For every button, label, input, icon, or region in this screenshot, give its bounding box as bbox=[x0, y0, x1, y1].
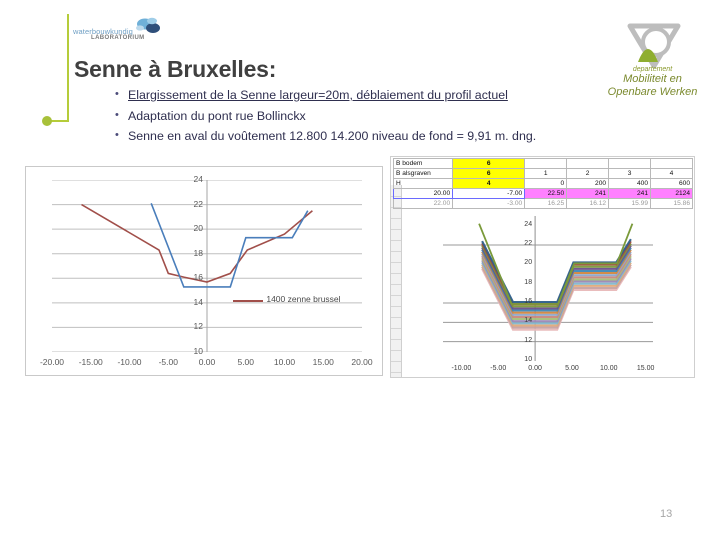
chart-right-xtick-label: 10.00 bbox=[592, 365, 626, 372]
row-header-divider bbox=[391, 361, 401, 362]
chart-left-xtick-label: -5.00 bbox=[148, 357, 188, 367]
cell-r1c4[interactable]: 4 bbox=[651, 169, 693, 179]
chart-left-cross-section: 1012141618202224-20.00-15.00-10.00-5.000… bbox=[25, 166, 383, 376]
page-number: 13 bbox=[660, 508, 672, 520]
chart-right-ytick-label: 22 bbox=[516, 240, 532, 247]
wl-logo-lab: LABORATORIUM bbox=[91, 35, 145, 41]
chart-left-legend-swatch bbox=[233, 300, 263, 302]
chart-left-ytick-label: 20 bbox=[181, 223, 203, 233]
row-label-b-bodem: B bodem bbox=[394, 159, 453, 169]
chart-left-ytick-label: 24 bbox=[181, 174, 203, 184]
chart-left-xtick-label: 20.00 bbox=[342, 357, 382, 367]
cell-r0c4[interactable] bbox=[651, 159, 693, 169]
cell-data-pink1[interactable]: 22.50 bbox=[525, 189, 567, 199]
table-row-selected: 20.00 -7.00 22.50 241 241 2124 bbox=[394, 189, 693, 199]
cell-r2c4[interactable]: 600 bbox=[651, 179, 693, 189]
chart-left-xtick-label: 10.00 bbox=[265, 357, 305, 367]
cell-data-pink4[interactable]: 2124 bbox=[651, 189, 693, 199]
chart-right-xtick-label: 0.00 bbox=[518, 365, 552, 372]
row-header-divider bbox=[391, 229, 401, 230]
chart-left-ytick-label: 18 bbox=[181, 248, 203, 258]
chart-right-ytick-label: 10 bbox=[516, 356, 532, 363]
bullet-list: Elargissement de la Senne largeur=20m, d… bbox=[113, 86, 613, 148]
row-header-divider bbox=[391, 372, 401, 373]
row-header-divider bbox=[391, 339, 401, 340]
row-header-divider bbox=[391, 273, 401, 274]
cell-data-col2[interactable]: -7.00 bbox=[453, 189, 525, 199]
page-title: Senne à Bruxelles: bbox=[74, 56, 276, 83]
chart-right-xtick-label: 5.00 bbox=[555, 365, 589, 372]
chart-left-xtick-label: -20.00 bbox=[32, 357, 72, 367]
accent-vertical-line bbox=[67, 14, 69, 120]
chart-right-xtick-label: 15.00 bbox=[629, 365, 663, 372]
chart-right-ytick-label: 12 bbox=[516, 337, 532, 344]
cell-r2c1[interactable]: 0 bbox=[525, 179, 567, 189]
chart-right-xtick-label: -5.00 bbox=[481, 365, 515, 372]
cell-b-alsgraven-value[interactable]: 6 bbox=[453, 169, 525, 179]
table-row: B alsgraven 6 1 2 3 4 bbox=[394, 169, 693, 179]
chart-left-xtick-label: 0.00 bbox=[187, 357, 227, 367]
bullet-item-1: Elargissement de la Senne largeur=20m, d… bbox=[113, 86, 613, 105]
row-header-divider bbox=[391, 295, 401, 296]
row-label-b-alsgraven: B alsgraven bbox=[394, 169, 453, 179]
chart-right-svg bbox=[443, 216, 653, 361]
chart-left-legend-label: 1400 zenne brussel bbox=[266, 294, 340, 304]
row-header-divider bbox=[391, 306, 401, 307]
chart-left-ytick-label: 12 bbox=[181, 321, 203, 331]
row-label-h: H bbox=[394, 179, 453, 189]
spreadsheet-table: B bodem 6 B alsgraven 6 1 2 3 4 H 4 0 20… bbox=[393, 158, 693, 209]
cell-data-pink3[interactable]: 241 bbox=[609, 189, 651, 199]
cell-faded-c4[interactable]: 15.86 bbox=[651, 199, 693, 209]
chart-left-xtick-label: 15.00 bbox=[303, 357, 343, 367]
chart-right-ytick-label: 16 bbox=[516, 298, 532, 305]
cell-b-bodem-value[interactable]: 6 bbox=[453, 159, 525, 169]
table-row: H 4 0 200 400 600 bbox=[394, 179, 693, 189]
spreadsheet-row-gutter bbox=[391, 185, 402, 378]
chart-left-plot-area: 1012141618202224-20.00-15.00-10.00-5.000… bbox=[52, 180, 362, 352]
cell-faded-col1[interactable]: 22.00 bbox=[394, 199, 453, 209]
chart-right-xtick-label: -10.00 bbox=[444, 365, 478, 372]
bullet-text-2: Adaptation du pont rue Bollinckx bbox=[128, 109, 306, 123]
row-header-divider bbox=[391, 251, 401, 252]
row-header-divider bbox=[391, 284, 401, 285]
bullet-item-3: Senne en aval du voûtement 12.800 14.200… bbox=[113, 127, 613, 146]
cell-r2c3[interactable]: 400 bbox=[609, 179, 651, 189]
chart-right-ytick-label: 20 bbox=[516, 259, 532, 266]
mow-logo: departement Mobiliteit en Openbare Werke… bbox=[600, 22, 705, 94]
chart-right-ytick-label: 24 bbox=[516, 221, 532, 228]
row-header-divider bbox=[391, 218, 401, 219]
cell-faded-c3[interactable]: 15.99 bbox=[609, 199, 651, 209]
row-header-divider bbox=[391, 262, 401, 263]
cell-r0c3[interactable] bbox=[609, 159, 651, 169]
cell-r1c1[interactable]: 1 bbox=[525, 169, 567, 179]
cell-data-col1[interactable]: 20.00 bbox=[394, 189, 453, 199]
cell-faded-c2[interactable]: 16.12 bbox=[567, 199, 609, 209]
cell-r0c1[interactable] bbox=[525, 159, 567, 169]
slide-canvas: waterbouwkundig LABORATORIUM departement… bbox=[0, 0, 720, 540]
bullet-text-1: Elargissement de la Senne largeur=20m, d… bbox=[128, 88, 508, 102]
bullet-item-2: Adaptation du pont rue Bollinckx bbox=[113, 107, 613, 126]
cell-r1c2[interactable]: 2 bbox=[567, 169, 609, 179]
mow-dep-label: departement bbox=[600, 66, 705, 73]
cell-h-value[interactable]: 4 bbox=[453, 179, 525, 189]
chart-left-xtick-label: 5.00 bbox=[226, 357, 266, 367]
chart-left-ytick-label: 16 bbox=[181, 272, 203, 282]
cell-data-pink2[interactable]: 241 bbox=[567, 189, 609, 199]
chart-right-plot-area: 1012141618202224-10.00-5.000.005.0010.00… bbox=[443, 216, 653, 361]
table-row: B bodem 6 bbox=[394, 159, 693, 169]
cell-r1c3[interactable]: 3 bbox=[609, 169, 651, 179]
table-row-partial: 22.00 -3.00 16.25 16.12 15.99 15.86 bbox=[394, 199, 693, 209]
chart-left-svg bbox=[52, 180, 362, 352]
chart-left-xtick-label: -15.00 bbox=[71, 357, 111, 367]
chart-right-ytick-label: 14 bbox=[516, 317, 532, 324]
waterbouwkundig-logo: waterbouwkundig LABORATORIUM bbox=[73, 19, 169, 49]
chart-left-xtick-label: -10.00 bbox=[110, 357, 150, 367]
bullet-text-3: Senne en aval du voûtement 12.800 14.200… bbox=[128, 129, 536, 143]
cell-r2c2[interactable]: 200 bbox=[567, 179, 609, 189]
mow-line1: Mobiliteit en bbox=[600, 73, 705, 85]
row-header-divider bbox=[391, 328, 401, 329]
mow-mark-icon bbox=[620, 22, 686, 68]
chart-right-excel: B bodem 6 B alsgraven 6 1 2 3 4 H 4 0 20… bbox=[390, 156, 695, 378]
water-blob-icon bbox=[133, 17, 161, 35]
chart-right-ytick-label: 18 bbox=[516, 279, 532, 286]
cell-faded-col2[interactable]: -3.00 bbox=[453, 199, 525, 209]
row-header-divider bbox=[391, 240, 401, 241]
cell-faded-c1[interactable]: 16.25 bbox=[525, 199, 567, 209]
row-header-divider bbox=[391, 350, 401, 351]
accent-dot bbox=[42, 116, 52, 126]
row-header-divider bbox=[391, 317, 401, 318]
chart-left-ytick-label: 22 bbox=[181, 199, 203, 209]
chart-left-ytick-label: 10 bbox=[181, 346, 203, 356]
chart-left-ytick-label: 14 bbox=[181, 297, 203, 307]
cell-r0c2[interactable] bbox=[567, 159, 609, 169]
